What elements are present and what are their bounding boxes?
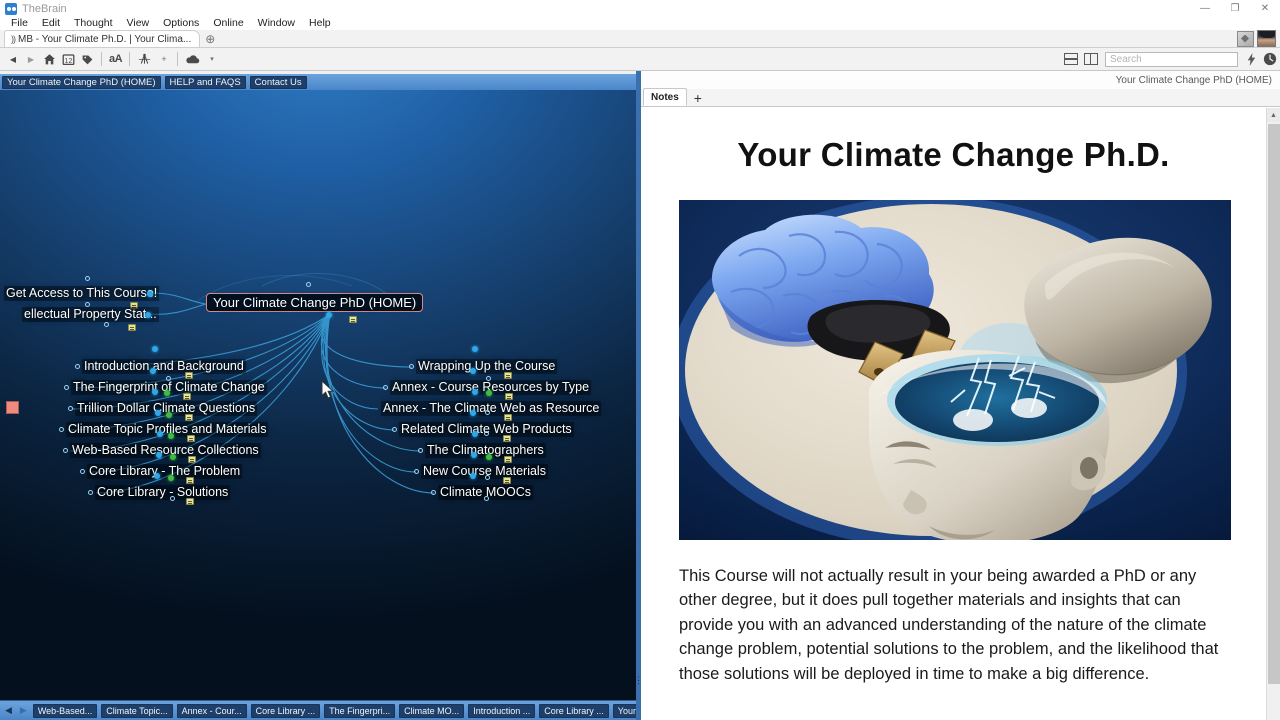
- plex-child-left-link-4[interactable]: [155, 410, 161, 416]
- home-icon[interactable]: [40, 49, 59, 70]
- plex-child-left-link-2[interactable]: [150, 368, 156, 374]
- font-size-button[interactable]: aA: [106, 49, 125, 70]
- plex-child-left-dot-1[interactable]: [75, 364, 80, 369]
- menu-file[interactable]: File: [4, 17, 35, 30]
- thought-network-icon[interactable]: [134, 49, 155, 70]
- window-controls: — ❐ ✕: [1190, 0, 1280, 17]
- plex-note-icon-p2[interactable]: [128, 324, 136, 331]
- history-back-arrow[interactable]: ◀: [3, 705, 14, 716]
- plex-note-icon-r1[interactable]: [504, 372, 512, 379]
- add-tab-button[interactable]: ⊕: [200, 30, 220, 47]
- plex-child-left-open-7[interactable]: [170, 496, 175, 501]
- plex-child-left-green-2[interactable]: [164, 390, 170, 396]
- notes-content[interactable]: Your Climate Change Ph.D.: [641, 108, 1266, 720]
- plex-child-right-link-4[interactable]: [470, 410, 476, 416]
- plex-child-left-1[interactable]: Introduction and Background: [82, 359, 246, 374]
- plex-note-icon-l7[interactable]: [186, 498, 194, 505]
- menu-bar: File Edit Thought View Options Online Wi…: [0, 17, 1280, 30]
- clock-glyph: [1263, 52, 1277, 66]
- back-button[interactable]: ◀: [4, 49, 22, 70]
- tab-notes[interactable]: Notes: [643, 88, 687, 106]
- notes-panel: Your Climate Change PhD (HOME) Notes + Y…: [641, 71, 1280, 720]
- plex-child-left-dot-2[interactable]: [64, 385, 69, 390]
- plex-child-right-link-3[interactable]: [472, 389, 478, 395]
- plex-child-right-link-1[interactable]: [472, 346, 478, 352]
- plex-child-left-green-6[interactable]: [168, 475, 174, 481]
- plex-parent-thought-2[interactable]: ellectual Property Stat...: [22, 307, 159, 322]
- plex-child-right-dot-1[interactable]: [409, 364, 414, 369]
- plex-child-right-link-6[interactable]: [471, 452, 477, 458]
- plex-child-left-link-1[interactable]: [152, 346, 158, 352]
- calendar-icon[interactable]: 12: [59, 49, 78, 70]
- plex-child-right-open-2[interactable]: [486, 376, 491, 381]
- plex-parent-open-dot-1[interactable]: [85, 276, 90, 281]
- clock-icon[interactable]: [1260, 49, 1280, 70]
- pinned-thought-help[interactable]: HELP and FAQS: [165, 76, 246, 89]
- plex-note-icon-l1[interactable]: [185, 372, 193, 379]
- plex-child-right-open-4[interactable]: [484, 431, 489, 436]
- home-glyph: [43, 53, 56, 66]
- plex-child-left-link-7[interactable]: [154, 473, 160, 479]
- plex-note-icon-r5[interactable]: [504, 456, 512, 463]
- plex-note-icon-r4[interactable]: [503, 435, 511, 442]
- plex-note-icon-r3[interactable]: [504, 414, 512, 421]
- menu-help[interactable]: Help: [302, 17, 338, 30]
- plex-note-icon-r2[interactable]: [505, 393, 513, 400]
- plex-parent-thought-1[interactable]: Get Access to This Course!: [4, 286, 159, 301]
- plex-child-left-open-2[interactable]: [166, 376, 171, 381]
- tab-strip: )) MB - Your Climate Ph.D. | Your Clima.…: [0, 30, 1280, 48]
- plex-child-left-link-5[interactable]: [157, 431, 163, 437]
- history-item-7[interactable]: Introduction ...: [468, 704, 535, 718]
- cloud-dropdown-caret-icon[interactable]: ▾: [203, 49, 221, 70]
- network-glyph: [137, 53, 152, 66]
- plex-child-left-green-3[interactable]: [166, 412, 172, 418]
- note-title: Your Climate Change Ph.D.: [679, 136, 1228, 174]
- plex-note-icon-active[interactable]: [349, 316, 357, 323]
- menu-thought[interactable]: Thought: [67, 17, 120, 30]
- calendar-glyph: 12: [62, 53, 75, 66]
- add-thought-button[interactable]: +: [155, 49, 173, 70]
- brain-cube-icon[interactable]: [1237, 31, 1254, 47]
- plex-parent-dot-1[interactable]: [147, 291, 153, 297]
- menu-view[interactable]: View: [120, 17, 157, 30]
- maximize-button[interactable]: ❐: [1220, 0, 1250, 17]
- plex-child-right-dot-7[interactable]: [431, 490, 436, 495]
- plex-child-right-link-2[interactable]: [470, 368, 476, 374]
- plex-child-right-dot-2[interactable]: [383, 385, 388, 390]
- user-avatar-icon[interactable]: [1257, 30, 1276, 47]
- plex-child-right-open-6[interactable]: [485, 475, 490, 480]
- cloud-glyph: [185, 54, 200, 65]
- app-title: TheBrain: [22, 3, 67, 15]
- plex-type-swatch[interactable]: [6, 401, 19, 414]
- pinned-thought-contact[interactable]: Contact Us: [250, 76, 307, 89]
- add-note-tab-button[interactable]: +: [687, 89, 709, 106]
- brain-tab-label: MB - Your Climate Ph.D. | Your Clima...: [18, 34, 191, 45]
- layout-v-glyph: [1084, 53, 1098, 65]
- plex-note-icon-l4[interactable]: [187, 435, 195, 442]
- menu-online[interactable]: Online: [206, 17, 250, 30]
- history-item-6[interactable]: Climate MO...: [399, 704, 464, 718]
- minimize-button[interactable]: —: [1190, 0, 1220, 17]
- brain-plug-head-illustration: [679, 200, 1231, 540]
- plex-child-left-dot-3[interactable]: [68, 406, 73, 411]
- history-forward-arrow[interactable]: ▶: [18, 705, 29, 716]
- tag-icon[interactable]: [78, 49, 97, 70]
- plex-note-icon-l6[interactable]: [186, 477, 194, 484]
- plex-child-right-green-2[interactable]: [486, 390, 492, 396]
- menu-window[interactable]: Window: [251, 17, 302, 30]
- note-paragraph: This Course will not actually result in …: [679, 564, 1233, 686]
- plex-active-thought[interactable]: Your Climate Change PhD (HOME): [206, 293, 423, 312]
- plex-child-right-dot-6[interactable]: [414, 469, 419, 474]
- tab-handle-icon: )): [11, 34, 15, 44]
- toolbar-separator-2: [129, 52, 130, 66]
- search-input[interactable]: [1105, 52, 1238, 67]
- notes-scrollbar[interactable]: ▲: [1266, 108, 1280, 720]
- pinned-thoughts-bar: Your Climate Change PhD (HOME) HELP and …: [0, 74, 640, 90]
- brain-logo-icon: [5, 3, 17, 15]
- history-item-4[interactable]: Core Library ...: [251, 704, 321, 718]
- svg-text:12: 12: [65, 57, 73, 64]
- plex-child-left-dot-5[interactable]: [63, 448, 68, 453]
- pinned-thought-home[interactable]: Your Climate Change PhD (HOME): [2, 76, 161, 89]
- history-item-5[interactable]: The Fingerpri...: [324, 704, 395, 718]
- layout-vertical-icon[interactable]: [1081, 49, 1101, 70]
- close-button[interactable]: ✕: [1250, 0, 1280, 17]
- plex-child-right-open-7[interactable]: [484, 496, 489, 501]
- plex-child-right-dot-5[interactable]: [418, 448, 423, 453]
- notes-thought-name: Your Climate Change PhD (HOME): [1116, 75, 1272, 86]
- scroll-up-button[interactable]: ▲: [1267, 108, 1280, 122]
- plex-active-dot[interactable]: [326, 312, 332, 318]
- plex-child-right-open-3[interactable]: [485, 410, 490, 415]
- plex-note-icon-r6[interactable]: [503, 477, 511, 484]
- plex-child-left-dot-7[interactable]: [88, 490, 93, 495]
- tag-glyph: [81, 53, 94, 66]
- plex-child-right-link-5[interactable]: [472, 431, 478, 437]
- plex-child-left-link-6[interactable]: [156, 452, 162, 458]
- menu-edit[interactable]: Edit: [35, 17, 67, 30]
- plex-child-left-green-5[interactable]: [170, 454, 176, 460]
- history-item-3[interactable]: Annex - Cour...: [177, 704, 247, 718]
- plex-parent-open-dot-2[interactable]: [85, 302, 90, 307]
- plex-child-left-link-3[interactable]: [152, 389, 158, 395]
- forward-button[interactable]: ▶: [22, 49, 40, 70]
- plex-note-icon-l3[interactable]: [185, 414, 193, 421]
- cloud-icon[interactable]: [182, 49, 203, 70]
- plex-child-right-link-7[interactable]: [470, 473, 476, 479]
- plex-child-left-6[interactable]: Core Library - The Problem: [87, 464, 242, 479]
- history-item-1[interactable]: Web-Based...: [33, 704, 97, 718]
- lightning-glyph: [1246, 53, 1257, 66]
- plex-child-right-dot-4[interactable]: [392, 427, 397, 432]
- layout-horizontal-icon[interactable]: [1061, 49, 1081, 70]
- plex-note-icon-l2[interactable]: [183, 393, 191, 400]
- plex-child-left-7[interactable]: Core Library - Solutions: [95, 485, 230, 500]
- toolbar-separator-1: [101, 52, 102, 66]
- title-bar: TheBrain — ❐ ✕: [0, 0, 1280, 17]
- toolbar-separator-3: [177, 52, 178, 66]
- plex-child-left-dot-4[interactable]: [59, 427, 64, 432]
- plex-link-lines: [0, 90, 640, 700]
- plex-child-right-green-5[interactable]: [486, 454, 492, 460]
- brain-tab[interactable]: )) MB - Your Climate Ph.D. | Your Clima.…: [4, 30, 200, 47]
- plex-child-right-1[interactable]: Wrapping Up the Course: [416, 359, 557, 374]
- history-bar: ◀ ▶ Web-Based... Climate Topic... Annex …: [0, 700, 640, 720]
- tabstrip-right-icons: [1237, 29, 1276, 48]
- plex-note-icon-l5[interactable]: [188, 456, 196, 463]
- history-item-8[interactable]: Core Library ...: [539, 704, 609, 718]
- plex-child-left-dot-6[interactable]: [80, 469, 85, 474]
- plex-mindmap[interactable]: Get Access to This Course! ellectual Pro…: [0, 90, 640, 700]
- plex-child-right-3[interactable]: Annex - The Climate Web as Resource: [381, 401, 601, 416]
- plex-child-left-green-4[interactable]: [168, 433, 174, 439]
- scrollbar-thumb[interactable]: [1268, 124, 1280, 684]
- notes-header: Your Climate Change PhD (HOME): [641, 71, 1280, 89]
- lightning-icon[interactable]: [1242, 49, 1260, 70]
- layout-h-glyph: [1064, 53, 1078, 65]
- plex-active-open-dot[interactable]: [306, 282, 311, 287]
- thebrain-window: TheBrain — ❐ ✕ File Edit Thought View Op…: [0, 0, 1280, 720]
- menu-options[interactable]: Options: [156, 17, 206, 30]
- notes-tab-bar: Notes +: [641, 89, 1280, 107]
- main-toolbar: ◀ ▶ 12 aA +: [0, 48, 1280, 71]
- history-item-2[interactable]: Climate Topic...: [101, 704, 172, 718]
- plex-parent-open-dot-3[interactable]: [104, 322, 109, 327]
- plex-child-left-5[interactable]: Web-Based Resource Collections: [70, 443, 261, 458]
- plex-parent-dot-2[interactable]: [145, 312, 151, 318]
